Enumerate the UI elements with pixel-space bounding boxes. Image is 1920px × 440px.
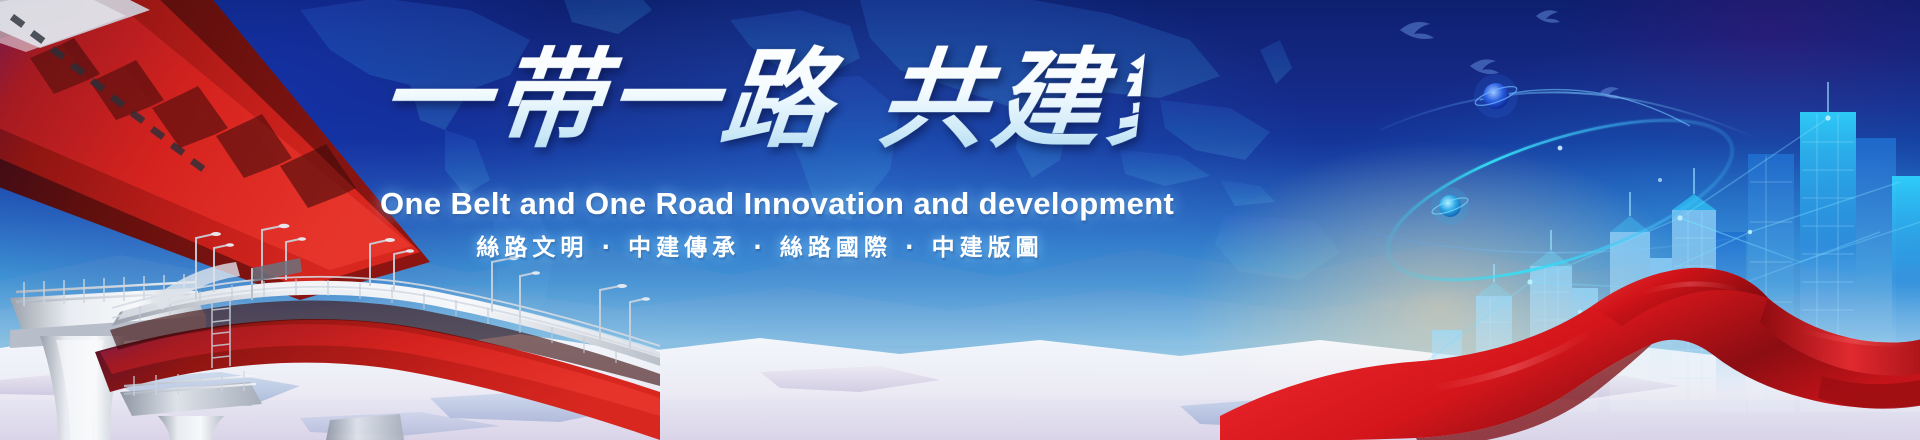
red-highway-viaduct xyxy=(0,0,660,440)
world-map-silhouette xyxy=(260,0,1540,340)
horizon-glow xyxy=(0,140,1920,400)
orbital-light-rings xyxy=(1260,30,1800,330)
subtitle-chinese: 絲路文明 · 中建傳承 · 絲路國際 · 中建版圖 xyxy=(380,228,1140,262)
subtitle-english: One Belt and One Road Innovation and dev… xyxy=(380,186,1140,222)
center-glow xyxy=(430,0,1330,420)
distant-mountain-range xyxy=(0,185,1920,345)
top-left-glow xyxy=(0,0,600,360)
right-cyan-glow xyxy=(1280,40,1920,440)
banner-text-block: 一带一路 共建繁荣 One Belt and One Road Innovati… xyxy=(0,0,1920,440)
belt-and-road-banner: 一带一路 共建繁荣 One Belt and One Road Innovati… xyxy=(0,0,1920,440)
red-silk-ribbon xyxy=(1220,220,1920,440)
glowing-city-skyline xyxy=(1280,82,1920,412)
headline-chinese: 一带一路 共建繁荣 xyxy=(373,38,1146,162)
top-right-glow xyxy=(1560,0,1920,180)
flying-birds xyxy=(1360,0,1680,150)
warm-city-glow xyxy=(1180,140,1700,380)
pale-continent-landmass xyxy=(0,230,1920,440)
